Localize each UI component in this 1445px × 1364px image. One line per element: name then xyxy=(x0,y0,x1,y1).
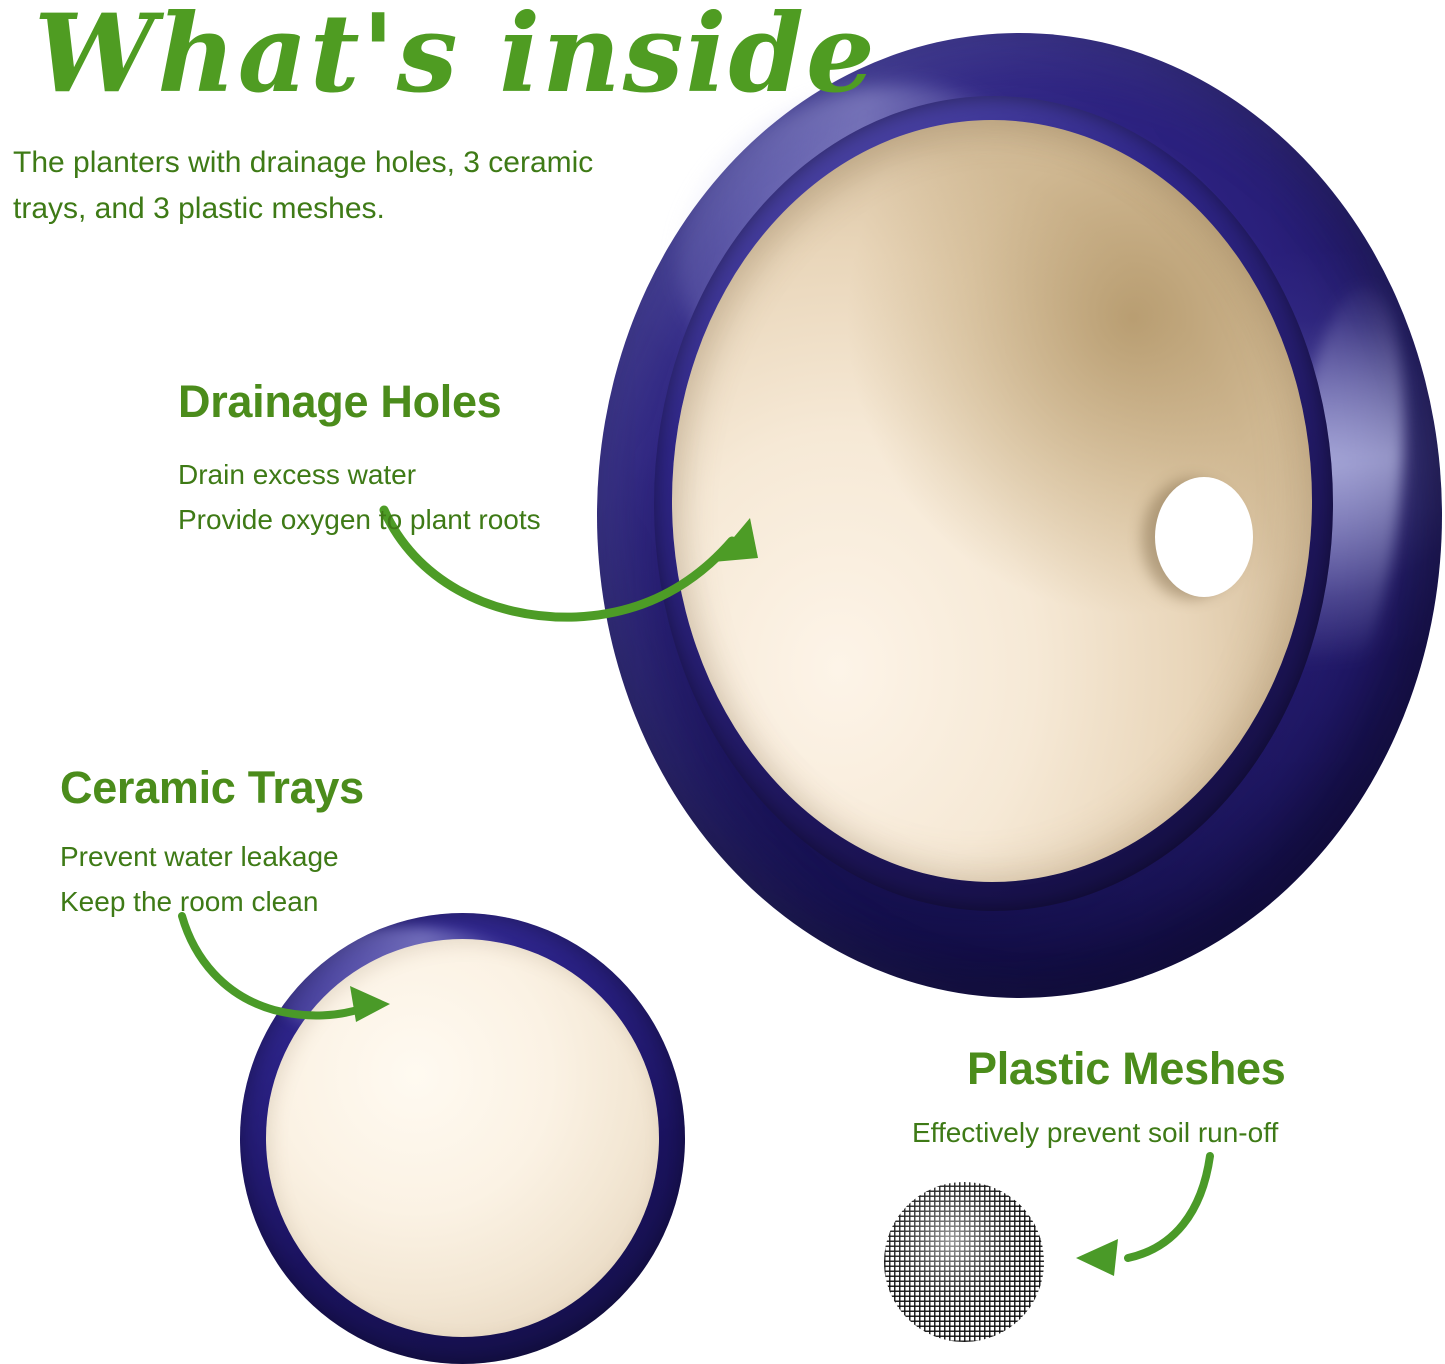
drainage-hole xyxy=(1155,477,1253,597)
feature-heading-drainage-holes: Drainage Holes xyxy=(178,376,501,428)
feature-line: Prevent water leakage xyxy=(60,834,339,879)
feature-line: Effectively prevent soil run-off xyxy=(912,1110,1278,1155)
feature-heading-plastic-meshes: Plastic Meshes xyxy=(967,1043,1285,1095)
planter-body xyxy=(597,33,1442,998)
feature-description-drainage-holes: Drain excess water Provide oxygen to pla… xyxy=(178,452,541,543)
feature-heading-ceramic-trays: Ceramic Trays xyxy=(60,762,364,814)
feature-description-plastic-meshes: Effectively prevent soil run-off xyxy=(912,1110,1278,1155)
page-title: What's inside xyxy=(34,0,877,115)
feature-line: Keep the room clean xyxy=(60,879,339,924)
arrow-plastic-meshes-icon xyxy=(1062,1150,1292,1320)
planter-inner-lip xyxy=(654,96,1333,911)
page-subtitle: The planters with drainage holes, 3 cera… xyxy=(13,140,633,231)
planter-interior xyxy=(672,120,1312,882)
plastic-mesh-disc xyxy=(884,1182,1044,1342)
feature-line: Drain excess water xyxy=(178,452,541,497)
ceramic-tray-rim-highlight xyxy=(267,927,543,1044)
plastic-mesh-highlight xyxy=(884,1182,1044,1342)
feature-line: Provide oxygen to plant roots xyxy=(178,497,541,542)
feature-description-ceramic-trays: Prevent water leakage Keep the room clea… xyxy=(60,834,339,925)
ceramic-tray-interior xyxy=(266,939,659,1337)
ceramic-tray xyxy=(240,913,685,1364)
